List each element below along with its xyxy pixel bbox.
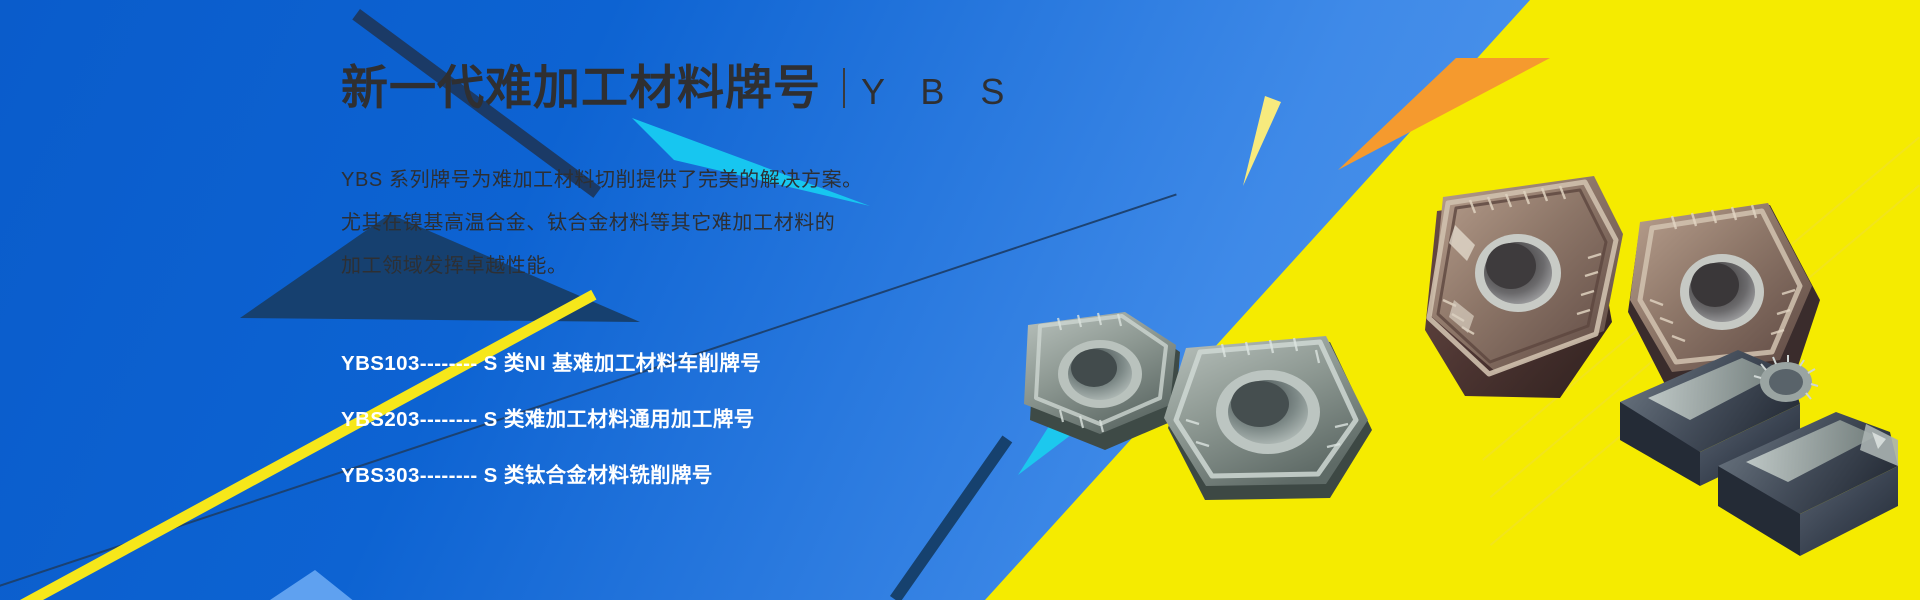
banner-content: 新一代难加工材料牌号 Y B S YBS 系列牌号为难加工材料切削提供了完美的解… xyxy=(341,62,1241,504)
description-paragraph: YBS 系列牌号为难加工材料切削提供了完美的解决方案。 尤其在镍基高温合金、钛合… xyxy=(341,159,1241,288)
description-line-1: YBS 系列牌号为难加工材料切削提供了完美的解决方案。 xyxy=(341,159,1241,202)
pale-yellow-triangle xyxy=(1243,96,1281,186)
grade-item-ybs303: YBS303-------- S 类钛合金材料铣削牌号 xyxy=(341,448,1241,504)
grade-item-ybs103: YBS103-------- S 类NI 基难加工材料车削牌号 xyxy=(341,336,1241,392)
headline-divider-icon xyxy=(843,68,845,108)
pale-blue-triangle-bottom-left xyxy=(255,570,365,600)
promo-banner: 新一代难加工材料牌号 Y B S YBS 系列牌号为难加工材料切削提供了完美的解… xyxy=(0,0,1920,600)
grade-list: YBS103-------- S 类NI 基难加工材料车削牌号 YBS203--… xyxy=(341,336,1241,504)
description-line-3: 加工领域发挥卓越性能。 xyxy=(341,245,1241,288)
headline: 新一代难加工材料牌号 Y B S xyxy=(341,62,1241,114)
description-line-2: 尤其在镍基高温合金、钛合金材料等其它难加工材料的 xyxy=(341,202,1241,245)
headline-series: Y B S xyxy=(861,71,1017,113)
headline-chinese: 新一代难加工材料牌号 xyxy=(341,62,821,114)
grade-item-ybs203: YBS203-------- S 类难加工材料通用加工牌号 xyxy=(341,392,1241,448)
